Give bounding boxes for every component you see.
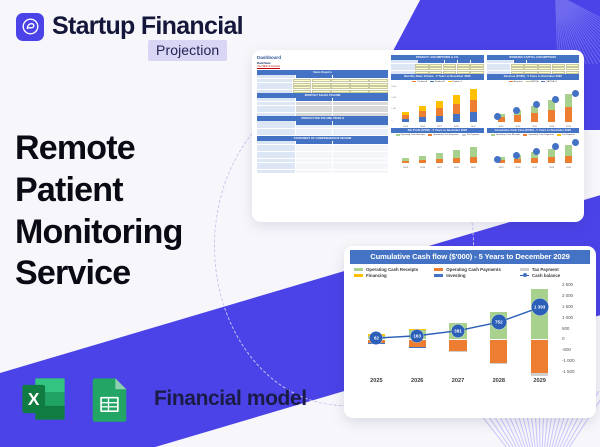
legend-swatch xyxy=(428,134,432,136)
mini-bar[interactable] xyxy=(436,153,443,163)
mini-bar[interactable] xyxy=(419,156,426,163)
brand-logo: Startup Financial xyxy=(16,12,243,41)
legend-swatch xyxy=(434,268,443,271)
headline-line-1: Remote xyxy=(15,128,183,170)
x-axis-tick: 2029 xyxy=(519,378,560,384)
mini-data-point xyxy=(572,139,579,146)
sheet-cell xyxy=(524,71,537,74)
mini-bar[interactable] xyxy=(565,94,572,122)
legend-swatch xyxy=(523,134,527,136)
axis-tick: 2027 xyxy=(532,167,537,169)
mini-bar[interactable] xyxy=(531,106,538,122)
mini-data-point xyxy=(494,156,501,163)
sheet-cell xyxy=(457,71,470,74)
legend-item: Tax Payment xyxy=(462,134,480,136)
axis-tick: 2027 xyxy=(437,167,442,169)
sheet-cell xyxy=(370,132,388,135)
mini-bar[interactable] xyxy=(402,158,409,163)
chart-plot-area: 621633817521 393 2 5002 0001 5001 000500… xyxy=(356,282,560,388)
y-axis-tick: 2 000 xyxy=(562,293,573,298)
y-axis-tick: -1 000 xyxy=(562,358,574,363)
legend-swatch xyxy=(520,275,529,277)
y-axis-tick: 2 500 xyxy=(562,282,573,287)
bar-segment xyxy=(436,116,443,122)
legend-swatch xyxy=(557,134,561,136)
mini-data-point xyxy=(552,96,559,103)
sheet-block-production xyxy=(257,121,388,135)
bar-segment xyxy=(436,101,443,108)
axis-tick: 2028 xyxy=(454,167,459,169)
sheet-cell xyxy=(470,71,483,74)
sheet-cell xyxy=(331,90,350,93)
sheet-cell xyxy=(429,71,442,74)
bar-segment xyxy=(436,108,443,116)
mini-chart-net-profit[interactable]: 20252026202720282029 xyxy=(391,137,483,169)
mini-chart-x-axis: 20252026202720282029 xyxy=(493,167,577,169)
legend-swatch xyxy=(509,81,513,83)
legend-item: Product B xyxy=(430,81,445,83)
chart-legend: Operating Cash ReceiptsOperating Cash Pa… xyxy=(350,264,590,280)
legend-label: Cash balance xyxy=(532,273,560,278)
dashboard-preview-card[interactable]: Dashboard Model Name Your Table of Conte… xyxy=(252,50,584,222)
mini-bar[interactable] xyxy=(548,100,555,122)
sheet-block-volume xyxy=(257,98,388,115)
bar-segment xyxy=(514,115,521,122)
sheet-cell xyxy=(350,90,369,93)
legend-swatch xyxy=(354,268,363,271)
bar-segment xyxy=(470,112,477,122)
chart-title: Cumulative Cash flow ($'000) - 5 Years t… xyxy=(350,250,590,264)
mini-bar[interactable] xyxy=(565,145,572,163)
bar-segment xyxy=(453,95,460,104)
sheet-block-assumptions xyxy=(391,60,483,74)
axis-tick: 2029 xyxy=(471,167,476,169)
legend-item-operating-cash-payments: Operating Cash Payments xyxy=(434,267,516,272)
axis-tick: 2026 xyxy=(420,126,425,128)
sheet-block-income xyxy=(257,141,388,173)
file-format-label: Financial model xyxy=(154,387,307,411)
sheet-cell xyxy=(391,71,415,74)
brand-name: Startup Financial xyxy=(52,12,243,41)
mini-bar[interactable] xyxy=(453,150,460,163)
bar-segment xyxy=(453,150,460,158)
bar-segment xyxy=(565,145,572,156)
legend-swatch xyxy=(396,134,400,136)
x-axis-tick: 2027 xyxy=(438,378,479,384)
sheet-cell xyxy=(257,132,295,135)
legend-swatch xyxy=(526,81,530,83)
axis-tick: 2029 xyxy=(471,126,476,128)
bar-segment xyxy=(470,147,477,157)
legend-item: EBITDA % xyxy=(541,81,556,83)
legend-swatch xyxy=(520,268,529,271)
sheet-cell xyxy=(296,113,314,116)
bar-segment xyxy=(436,159,443,163)
axis-tick: 2025 xyxy=(403,167,408,169)
legend-swatch xyxy=(412,81,416,83)
sheet-cell xyxy=(511,71,524,74)
legend-label: Financing xyxy=(366,273,387,278)
mini-chart-x-axis: 20252026202720282029 xyxy=(397,126,481,128)
sheet-cell xyxy=(369,90,388,93)
chart-y-axis: 2 5002 0001 5001 0005000-500-1 000-1 500 xyxy=(562,282,590,374)
sheet-cell xyxy=(333,113,351,116)
bar-segment xyxy=(419,160,426,163)
sheet-row xyxy=(257,113,388,116)
x-axis-tick: 2026 xyxy=(397,378,438,384)
mini-data-point xyxy=(572,90,579,97)
legend-item-financing: Financing xyxy=(354,273,430,278)
sheet-row xyxy=(391,71,483,74)
axis-tick: 2029 xyxy=(566,126,571,128)
sheet-cell xyxy=(314,170,332,173)
data-label: 62 xyxy=(370,332,383,345)
axis-tick: 2028 xyxy=(549,126,554,128)
bar-segment xyxy=(548,110,555,122)
x-axis-tick: 2028 xyxy=(478,378,519,384)
sheet-cell xyxy=(296,170,314,173)
axis-tick: 2029 xyxy=(566,167,571,169)
mini-chart-sales-volume[interactable]: 3 0002 0001 000020252026202720282029 xyxy=(391,84,483,128)
sheet-cell xyxy=(257,113,295,116)
legend-item: Product C xyxy=(448,81,463,83)
axis-tick: 2027 xyxy=(532,126,537,128)
bar-segment xyxy=(402,161,409,163)
sheet-cell xyxy=(370,170,388,173)
bar-segment xyxy=(531,113,538,122)
legend-swatch xyxy=(434,274,443,277)
mini-bar[interactable] xyxy=(548,149,555,163)
bar-segment xyxy=(453,114,460,122)
headline-line-3: Monitoring xyxy=(15,212,183,254)
legend-item: EBITDA xyxy=(526,81,539,83)
legend-label: Operating Cash Payments xyxy=(446,267,501,272)
y-axis-tick: 1 500 xyxy=(562,304,573,309)
y-axis-tick: 500 xyxy=(562,326,569,331)
legend-label: Investing xyxy=(446,273,465,278)
legend-swatch xyxy=(462,134,466,136)
legend-label: Tax Payment xyxy=(532,267,559,272)
dashboard-charts-column-2: WORKING CAPITAL ASSUMPTIONS Revenue ($'0… xyxy=(487,55,579,218)
sheet-cell xyxy=(566,71,579,74)
headline-line-2: Patient xyxy=(15,170,183,212)
mini-bar[interactable] xyxy=(436,101,443,122)
sheet-cell xyxy=(312,90,331,93)
sheet-cell xyxy=(333,132,351,135)
bar-segment xyxy=(402,119,409,122)
mini-bar[interactable] xyxy=(402,112,409,122)
dashboard-toc-link[interactable]: Your Table of Contents xyxy=(257,65,388,68)
sheet-cell xyxy=(351,170,369,173)
bar-segment xyxy=(419,117,426,122)
axis-tick: 2026 xyxy=(420,167,425,169)
sheet-cell xyxy=(370,113,388,116)
mini-chart-revenue[interactable]: 20252026202720282029 xyxy=(487,84,579,128)
sheet-row xyxy=(257,170,388,173)
dashboard-charts-column-1: PROJECT: ASSUMPTIONS & CO. Monthly Sales… xyxy=(391,55,483,218)
mini-data-point xyxy=(533,148,540,155)
axis-tick: 2025 xyxy=(403,126,408,128)
mini-bar[interactable] xyxy=(453,95,460,122)
x-axis-tick: 2025 xyxy=(356,378,397,384)
file-format-row: X Financial model xyxy=(18,373,307,425)
sheet-cell xyxy=(552,71,565,74)
mini-chart-bars xyxy=(397,88,481,122)
legend-swatch xyxy=(448,81,452,83)
sheet-block-sales xyxy=(257,75,388,92)
legend-swatch xyxy=(491,134,495,136)
y-axis-tick: -500 xyxy=(562,347,571,352)
data-label: 381 xyxy=(452,324,465,337)
bar-segment xyxy=(470,89,477,100)
axis-tick: 2025 xyxy=(499,126,504,128)
legend-item-operating-cash-receipts: Operating Cash Receipts xyxy=(354,267,430,272)
axis-tick: 2026 xyxy=(515,126,520,128)
legend-item: Operating Cash Receipts xyxy=(491,134,520,136)
legend-swatch xyxy=(430,81,434,83)
sheet-cell xyxy=(443,71,456,74)
sheet-cell xyxy=(415,71,428,74)
swirl-e-logo-icon xyxy=(16,13,44,41)
projection-badge: Projection xyxy=(148,40,227,61)
mini-bar[interactable] xyxy=(470,147,477,163)
mini-data-point xyxy=(494,113,501,120)
axis-tick: 2028 xyxy=(549,167,554,169)
data-label: 1 393 xyxy=(531,299,548,316)
legend-item: Revenue xyxy=(509,81,523,83)
svg-text:X: X xyxy=(28,389,40,409)
sheet-row xyxy=(257,90,388,93)
sheet-cell xyxy=(538,71,551,74)
mini-data-point xyxy=(533,101,540,108)
sheet-cell xyxy=(296,132,314,135)
mini-chart-cumulative[interactable]: 20252026202720282029 xyxy=(487,137,579,169)
bar-segment xyxy=(470,157,477,163)
headline-line-4: Service xyxy=(15,253,183,295)
sheet-cell xyxy=(333,170,351,173)
sheet-row xyxy=(487,71,579,74)
y-axis-tick: 0 xyxy=(562,336,564,341)
y-axis-tick: -1 500 xyxy=(562,369,574,374)
page-title: Remote Patient Monitoring Service xyxy=(15,128,183,295)
mini-bar[interactable] xyxy=(470,89,477,122)
bar-segment xyxy=(531,158,538,163)
bar-segment xyxy=(514,159,521,163)
dashboard-heading: Dashboard xyxy=(257,55,388,61)
axis-tick: 2026 xyxy=(515,167,520,169)
sheet-cell xyxy=(314,113,332,116)
legend-swatch xyxy=(354,274,363,277)
y-axis-tick: 1 000 xyxy=(562,315,573,320)
poster-canvas: Startup Financial Projection Remote Pati… xyxy=(0,0,600,447)
legend-item-tax-payment: Tax Payment xyxy=(520,267,588,272)
sheet-cell xyxy=(351,113,369,116)
bar-segment xyxy=(565,156,572,163)
data-label: 752 xyxy=(491,315,506,330)
bar-segment xyxy=(453,158,460,163)
sheet-cell xyxy=(487,71,511,74)
mini-chart-x-axis: 20252026202720282029 xyxy=(493,126,577,128)
sheet-cell xyxy=(257,170,295,173)
legend-item: Operating Cash Receipts xyxy=(396,134,425,136)
sheet-cell xyxy=(293,90,312,93)
legend-item-cash-balance: Cash balance xyxy=(520,273,588,278)
legend-label: Operating Cash Receipts xyxy=(366,267,418,272)
dashboard-spreadsheet-column: Dashboard Model Name Your Table of Conte… xyxy=(257,55,388,218)
legend-item: Product A xyxy=(412,81,426,83)
bar-segment xyxy=(470,100,477,112)
sheet-row xyxy=(257,132,388,135)
bar-segment xyxy=(453,104,460,114)
mini-bar[interactable] xyxy=(419,106,426,122)
data-label: 163 xyxy=(411,329,424,342)
mini-chart-x-axis: 20252026202720282029 xyxy=(397,167,481,169)
google-sheets-icon xyxy=(84,373,136,425)
axis-tick: 2025 xyxy=(499,167,504,169)
axis-tick: 2028 xyxy=(454,126,459,128)
axis-tick: 2027 xyxy=(437,126,442,128)
sheet-block-working-capital xyxy=(487,60,579,74)
legend-item: Tax Payment xyxy=(557,134,575,136)
mini-chart-bars xyxy=(397,141,481,163)
cash-flow-chart-card[interactable]: Cumulative Cash flow ($'000) - 5 Years t… xyxy=(344,246,596,418)
legend-swatch xyxy=(541,81,545,83)
chart-x-axis: 20252026202720282029 xyxy=(356,374,560,388)
bar-segment xyxy=(548,157,555,163)
legend-item: Operating Cash Payments xyxy=(428,134,459,136)
bar-segment xyxy=(565,94,572,107)
legend-item: Operating Cash Payments xyxy=(523,134,554,136)
legend-item-investing: Investing xyxy=(434,273,516,278)
sheet-cell xyxy=(257,90,292,93)
sheet-cell xyxy=(314,132,332,135)
sheet-cell xyxy=(351,132,369,135)
bar-segment xyxy=(565,107,572,122)
microsoft-excel-icon: X xyxy=(18,373,70,425)
